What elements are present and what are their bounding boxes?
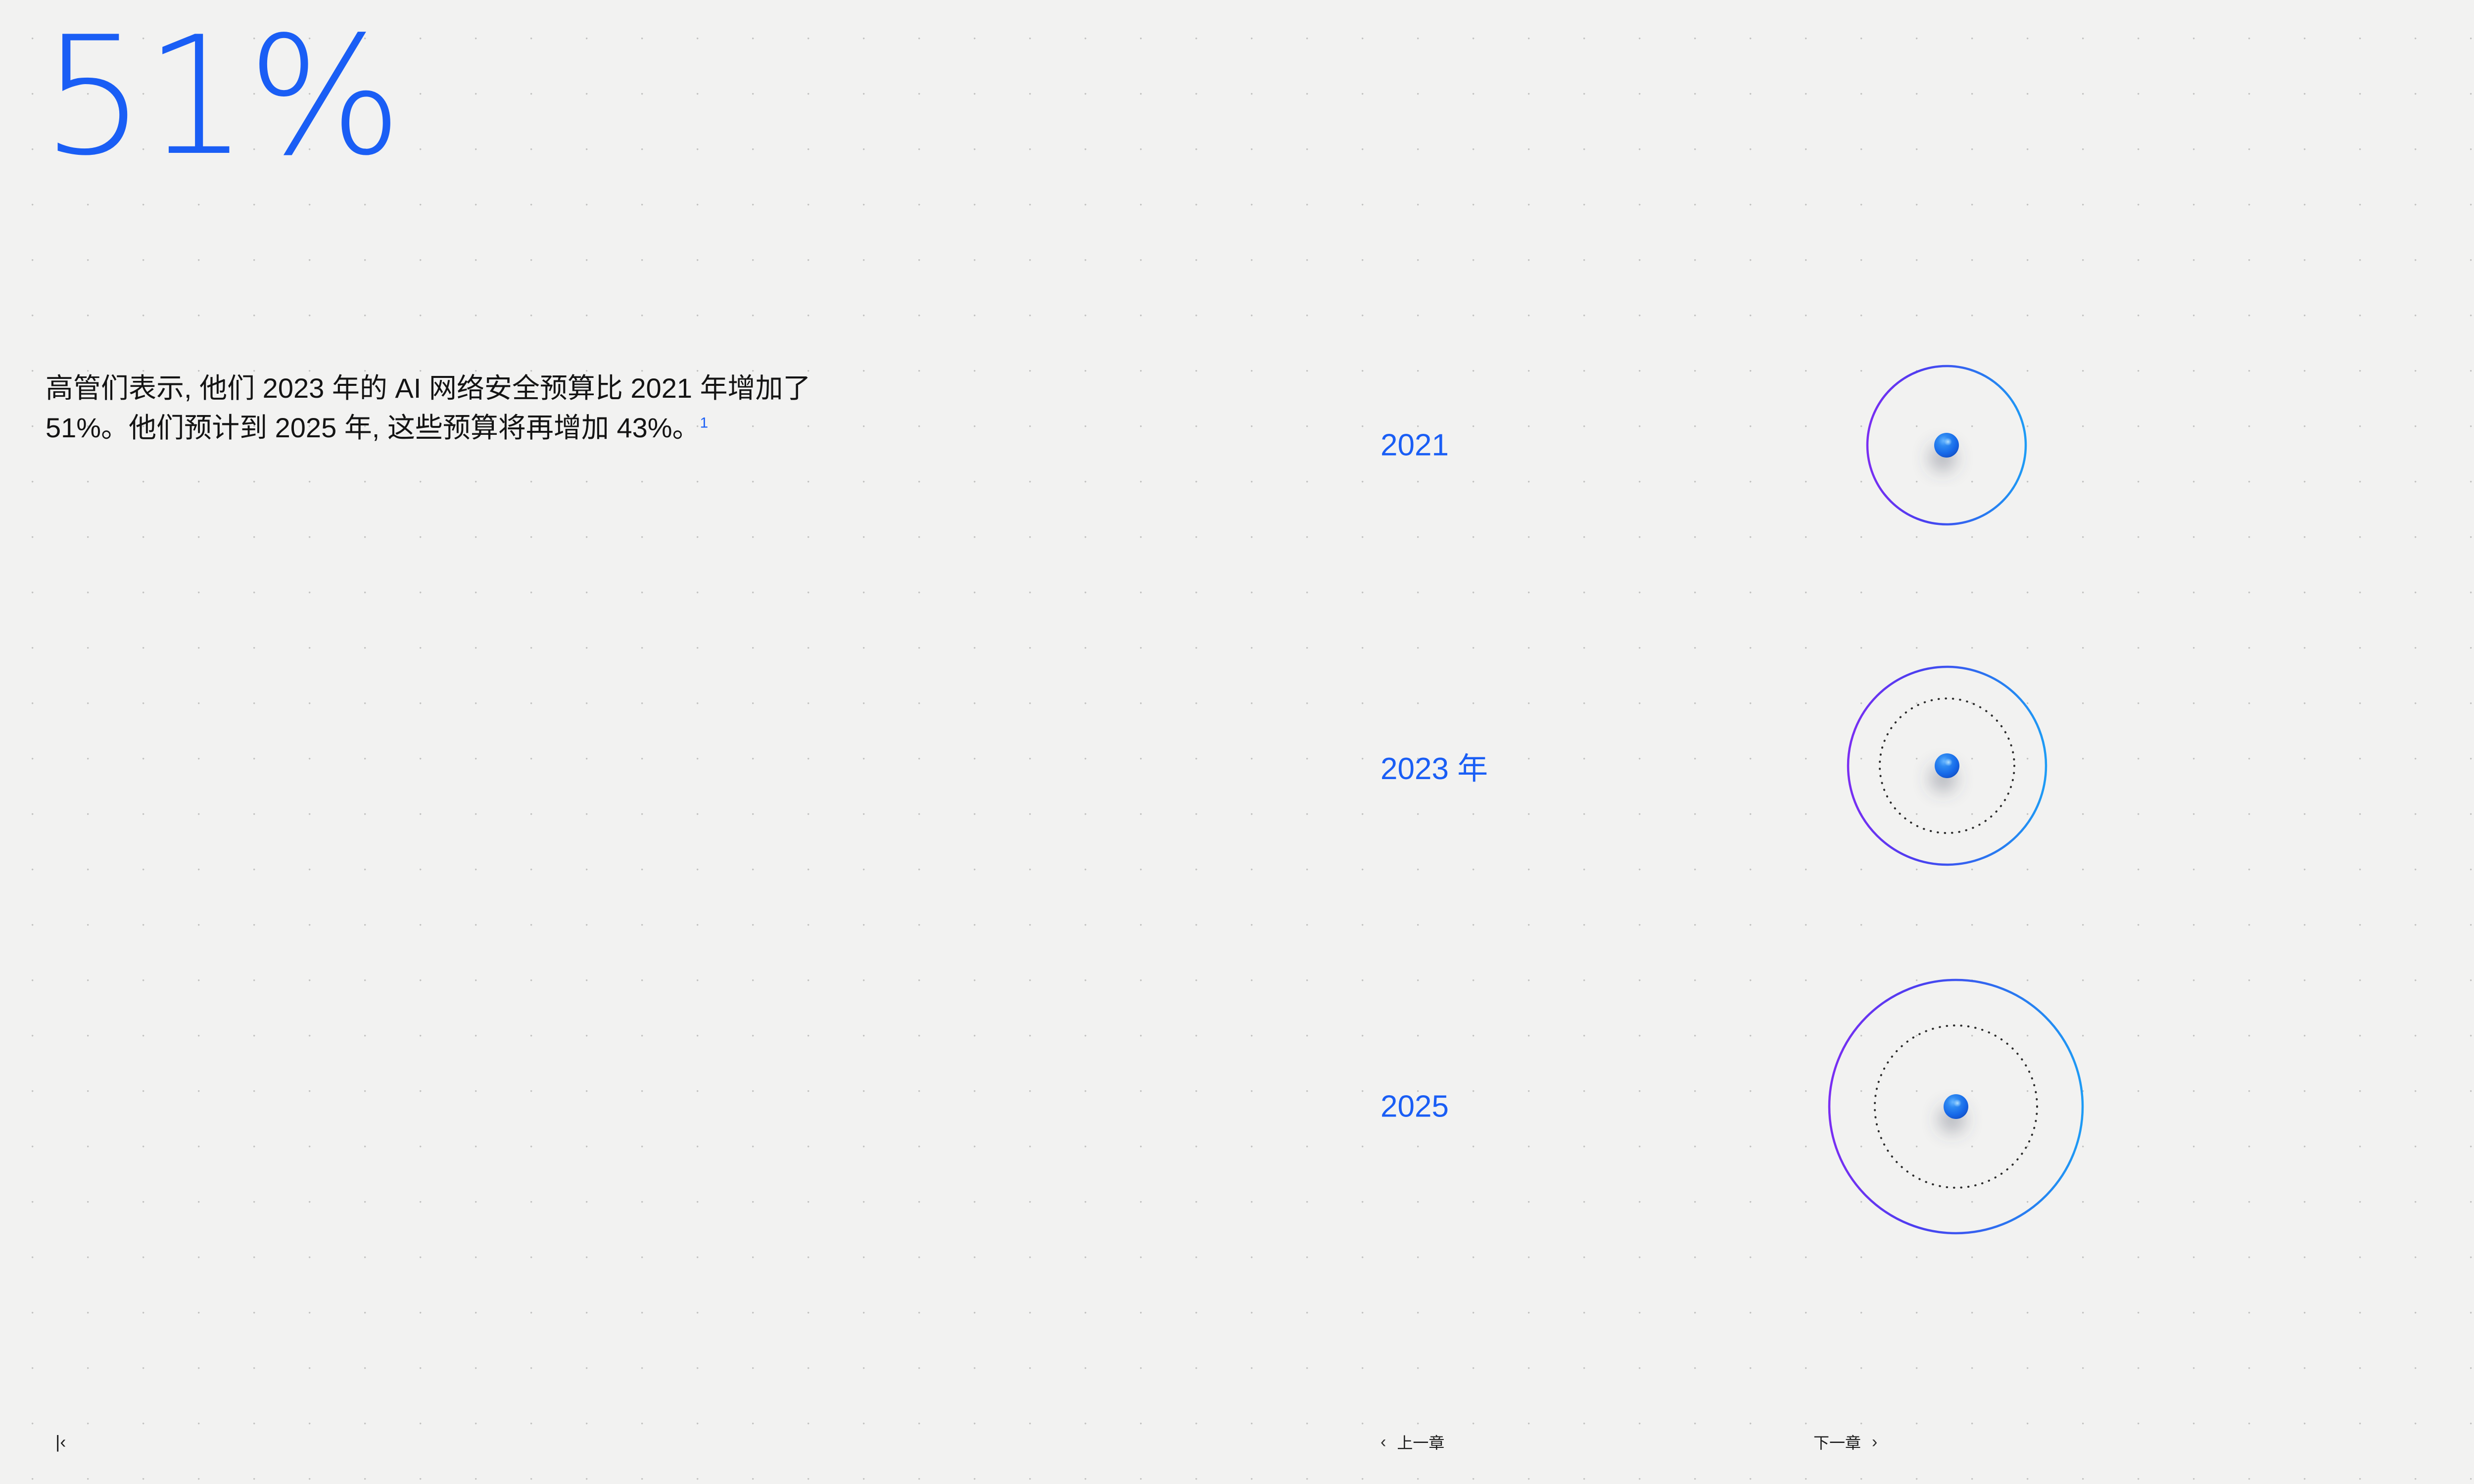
chevron-left-icon: ‹ [1380, 1434, 1386, 1450]
first-page-icon: |‹ [55, 1433, 66, 1451]
bubble-group-2021 [1509, 366, 2026, 524]
year-label-2023-年: 2023 年 [1380, 743, 1488, 788]
chevron-right-icon: › [1872, 1434, 1877, 1450]
previous-chapter-button[interactable]: ‹ 上一章 [1380, 1431, 1444, 1453]
footnote-marker: 1 [700, 415, 709, 431]
first-page-button[interactable]: |‹ [55, 1433, 66, 1451]
previous-chapter-label: 上一章 [1397, 1431, 1444, 1453]
year-label-2021: 2021 [1380, 428, 1449, 463]
bubble-group-2023-年 [1534, 667, 2046, 865]
inner-dotted-ring [1875, 1025, 2037, 1188]
outer-ring [1829, 980, 2083, 1233]
body-paragraph: 高管们表示, 他们 2023 年的 AI 网络安全预算比 2021 年增加了 5… [46, 369, 837, 447]
next-chapter-button[interactable]: 下一章 › [1813, 1431, 1877, 1453]
outer-ring [1867, 366, 2026, 524]
center-sphere [1935, 753, 1959, 778]
footer-navigation: |‹ ‹ 上一章 下一章 › 8 [0, 1400, 2474, 1484]
inner-dotted-ring [1880, 698, 2014, 833]
year-label-2025: 2025 [1380, 1089, 1449, 1124]
bubble-growth-diagram [0, 0, 2474, 1484]
slide-canvas: 51% 高管们表示, 他们 2023 年的 AI 网络安全预算比 2021 年增… [0, 0, 2474, 1484]
center-sphere [1934, 433, 1959, 458]
sphere-highlight [1944, 438, 1952, 446]
dot-grid-background [0, 0, 2474, 1484]
body-paragraph-text: 高管们表示, 他们 2023 年的 AI 网络安全预算比 2021 年增加了 5… [46, 372, 811, 443]
sphere-highlight [1953, 1099, 1961, 1107]
page-title-stat: 51% [42, 15, 401, 178]
outer-ring [1848, 667, 2046, 865]
sphere-highlight [1945, 758, 1952, 766]
next-chapter-label: 下一章 [1813, 1431, 1861, 1453]
bubble-group-2025 [1509, 980, 2083, 1233]
center-sphere [1944, 1094, 1968, 1119]
